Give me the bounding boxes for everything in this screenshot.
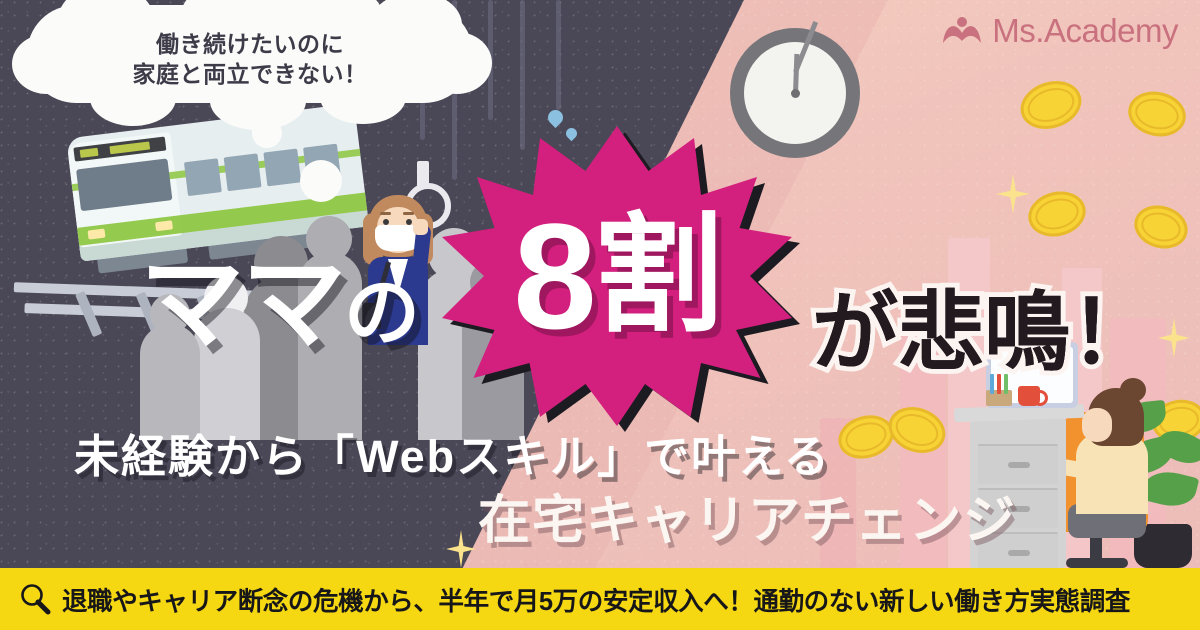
brand-logo[interactable]: Ms.Academy [941, 12, 1178, 50]
bubble-tail-dot [300, 160, 342, 202]
worker-hair-bun [1120, 378, 1146, 402]
office-chair-base [1066, 558, 1128, 568]
coffee-mug [1018, 386, 1040, 406]
footer-text: 退職やキャリア断念の危機から、半年で月5万の安定収入へ！通勤のない新しい働き方実… [62, 581, 1130, 618]
woman-hand [413, 219, 428, 235]
magnifier-icon [18, 582, 52, 616]
footer-bar: 退職やキャリア断念の危機から、半年で月5万の安定収入へ！通勤のない新しい働き方実… [0, 568, 1200, 630]
worker-face [1082, 408, 1112, 442]
woman-eyebrow [380, 212, 391, 215]
m-peak-icon [941, 15, 983, 47]
burst-unit: 割 [595, 212, 721, 340]
burst-number: 8 [513, 201, 594, 351]
bubble-line-2: 家庭と両立できない！ [133, 60, 368, 90]
burst-label: 8割 [442, 126, 792, 426]
headline-right: が悲鳴！ [812, 290, 1156, 376]
bubble-line-1: 働き続けたいのに [156, 30, 344, 60]
brand-logo-text: Ms.Academy [992, 12, 1178, 50]
woman-eyebrow [403, 212, 414, 215]
background-stripe [556, 0, 561, 110]
plant-leaf [1141, 466, 1200, 512]
bubble-tail-dot [252, 118, 282, 148]
pencil-holder [986, 390, 1012, 406]
headline-particle: の [344, 271, 418, 356]
banner-canvas: 働き続けたいのに 家庭と両立できない！ [0, 0, 1200, 630]
headline-left: ママの [140, 252, 418, 356]
clock-center-pin [791, 89, 800, 98]
subtitle-line-2: 在宅キャリアチェンジ [478, 478, 1017, 553]
speech-bubble-text: 働き続けたいのに 家庭と両立できない！ [30, 14, 470, 106]
headline-mama: ママ [140, 246, 344, 362]
subtitle-line-1: 未経験から「Webスキル」で叶える [74, 420, 831, 485]
